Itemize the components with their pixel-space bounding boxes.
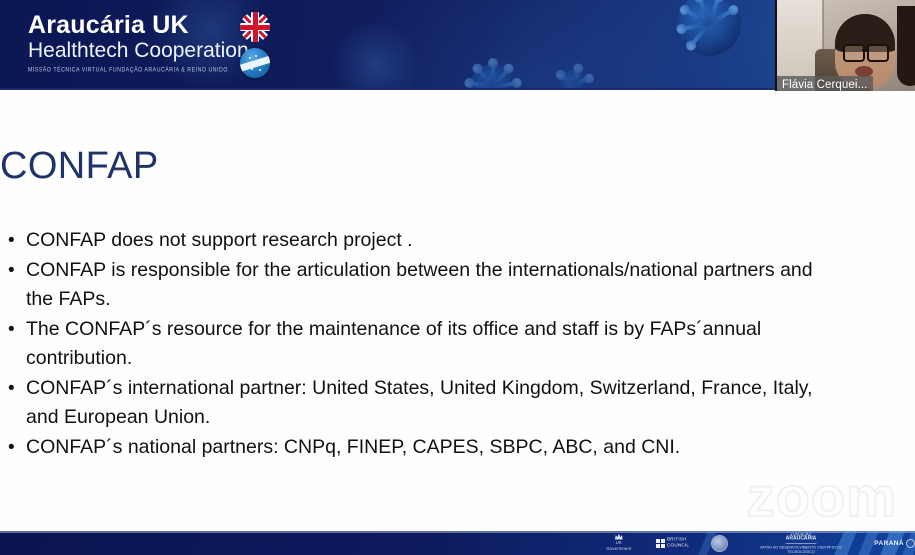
brazil-flag-icon xyxy=(240,48,270,78)
bullet-marker-icon: • xyxy=(8,226,26,256)
british-council-logo: BRITISH COUNCIL xyxy=(656,538,686,547)
british-council-grid-icon xyxy=(656,539,665,548)
fundacao-araucaria-small-bottom: APOIO AO DESENVOLVIMENTO CIENTÍFICO E TE… xyxy=(760,545,842,554)
united-kingdom-flag-icon xyxy=(240,12,270,42)
bullet-marker-icon: • xyxy=(8,256,26,286)
bullet-marker-icon: • xyxy=(8,374,26,404)
list-item: • CONFAP does not support research proje… xyxy=(8,226,838,256)
virus-particle-icon xyxy=(677,0,741,56)
virus-particle-icon xyxy=(470,64,516,90)
list-item-text: CONFAP is responsible for the articulati… xyxy=(26,256,838,315)
list-item-text: The CONFAP´s resource for the maintenanc… xyxy=(26,315,838,374)
footer-logo-row: UK Government BRITISH COUNCIL FUNDAÇÃO A… xyxy=(608,533,915,553)
zoom-meeting-screen: Araucária UK Healthtech Cooperation MISS… xyxy=(0,0,915,555)
participant-video-tile[interactable]: Flávia Cerquei... xyxy=(775,0,915,95)
list-item: • The CONFAP´s resource for the maintena… xyxy=(8,315,838,374)
eyeglasses-icon xyxy=(843,44,889,58)
crown-icon xyxy=(615,534,623,540)
british-council-logo-line1: BRITISH xyxy=(667,537,687,542)
brand-title-line1: Araucária UK xyxy=(28,12,249,39)
brand-subtitle-line3: MISSÃO TÉCNICA VIRTUAL FUNDAÇÃO ARAUCÁRI… xyxy=(28,67,249,74)
participant-hair-side xyxy=(897,6,915,86)
institutional-seal-logo xyxy=(711,535,728,552)
bullet-list: • CONFAP does not support research proje… xyxy=(8,226,838,462)
uk-government-logo-line2: Government xyxy=(606,546,631,551)
virus-particle-icon xyxy=(560,70,588,90)
list-item-text: CONFAP´s international partner: United S… xyxy=(26,374,838,433)
parana-emblem-icon xyxy=(906,539,915,548)
fundacao-araucaria-big: ARAUCÁRIA xyxy=(750,537,853,542)
bullet-marker-icon: • xyxy=(8,433,26,463)
page-title: CONFAP xyxy=(0,145,159,187)
araucaria-uk-brand-logo: Araucária UK Healthtech Cooperation MISS… xyxy=(28,12,249,73)
list-item: • CONFAP´s national partners: CNPq, FINE… xyxy=(8,433,838,463)
list-item: • CONFAP is responsible for the articula… xyxy=(8,256,838,315)
zoom-watermark: zoom xyxy=(747,469,897,525)
list-item-text: CONFAP does not support research project… xyxy=(26,226,838,256)
list-item-text: CONFAP´s national partners: CNPq, FINEP,… xyxy=(26,433,838,463)
british-council-logo-line2: COUNCIL xyxy=(667,543,689,548)
uk-government-logo: UK Government xyxy=(608,535,630,550)
slide-content-area: CONFAP • CONFAP does not support researc… xyxy=(0,91,915,531)
seal-icon xyxy=(711,535,728,552)
list-item: • CONFAP´s international partner: United… xyxy=(8,374,838,433)
divider xyxy=(786,542,817,543)
brand-title-line2: Healthtech Cooperation xyxy=(28,39,249,63)
virus-glow-decoration xyxy=(330,20,420,90)
parana-government-logo: PARANÁ xyxy=(874,539,915,548)
fundacao-araucaria-logo: FUNDAÇÃO ARAUCÁRIA APOIO AO DESENVOLVIME… xyxy=(754,533,848,554)
bullet-marker-icon: • xyxy=(8,315,26,345)
parana-logo-label: PARANÁ xyxy=(874,540,904,547)
slide-footer-bar: UK Government BRITISH COUNCIL FUNDAÇÃO A… xyxy=(0,531,915,555)
flag-badges-group xyxy=(240,12,270,84)
